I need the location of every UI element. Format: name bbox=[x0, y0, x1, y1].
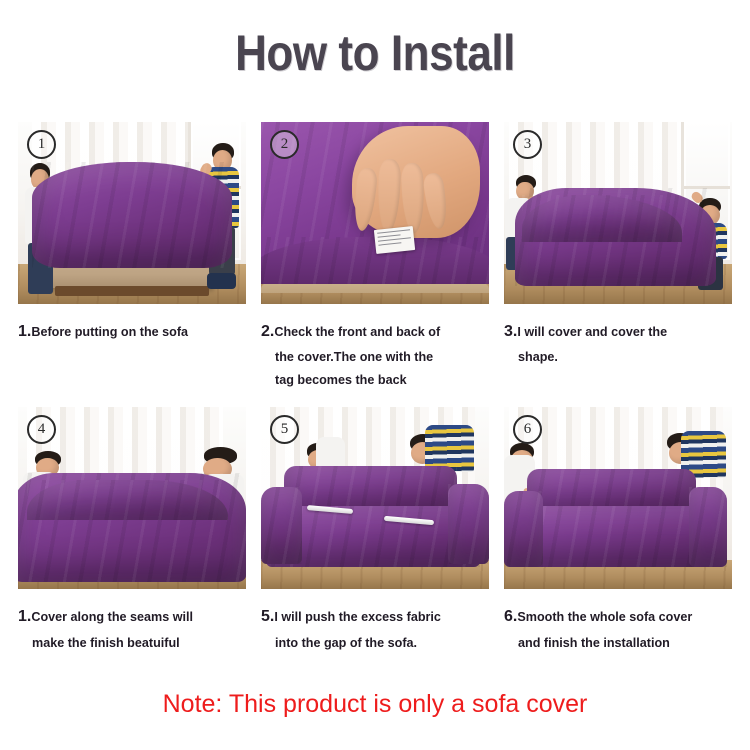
fabric-folds bbox=[448, 484, 489, 564]
finger bbox=[376, 159, 400, 234]
step-badge: 3 bbox=[513, 130, 542, 159]
step-photo-5: 5 bbox=[261, 407, 489, 589]
caption-line-2: make the finish beatuiful bbox=[18, 632, 246, 654]
step-cell-6: 6 6.Smooth the whole sofa cover and fini… bbox=[504, 407, 732, 654]
step-number: 1. bbox=[18, 608, 31, 625]
step-number: 3. bbox=[504, 323, 517, 340]
care-tag bbox=[374, 226, 415, 254]
finger bbox=[401, 162, 425, 233]
tag-text-line bbox=[378, 241, 401, 245]
step-caption-1: 1.Before putting on the sofa bbox=[18, 318, 246, 346]
step-cell-4: 4 1.Cover along the seams will make the … bbox=[18, 407, 246, 654]
step-cell-1: 1 1.Before putting on the sofa bbox=[18, 122, 246, 391]
step-photo-6: 6 bbox=[504, 407, 732, 589]
caption-line-1: Check the front and back of bbox=[274, 325, 440, 339]
caption-line-1: Cover along the seams will bbox=[31, 610, 193, 624]
shoes bbox=[207, 273, 236, 289]
fabric-folds bbox=[261, 487, 302, 563]
step-badge: 1 bbox=[27, 130, 56, 159]
caption-line-2: the cover.The one with the bbox=[261, 346, 489, 368]
hand bbox=[352, 126, 480, 239]
step-cell-2: 2 2.Check the front and back of the cove… bbox=[261, 122, 489, 391]
step-caption-2: 2.Check the front and back of the cover.… bbox=[261, 318, 489, 391]
step-number: 6. bbox=[504, 608, 517, 625]
step-number: 5. bbox=[261, 608, 274, 625]
finger bbox=[422, 172, 450, 231]
caption-line-1: I will push the excess fabric bbox=[274, 610, 441, 624]
footer-note: Note: This product is only a sofa cover bbox=[0, 690, 750, 719]
step-badge: 2 bbox=[270, 130, 299, 159]
caption-line-3: tag becomes the back bbox=[261, 369, 489, 391]
step-caption-6: 6.Smooth the whole sofa cover and finish… bbox=[504, 603, 732, 654]
tag-text-line bbox=[378, 233, 401, 237]
caption-line-1: Before putting on the sofa bbox=[31, 325, 188, 339]
fabric-folds bbox=[32, 162, 233, 268]
step-caption-4: 1.Cover along the seams will make the fi… bbox=[18, 603, 246, 654]
step-caption-3: 3.I will cover and cover the shape. bbox=[504, 318, 732, 369]
step-photo-4: 4 bbox=[18, 407, 246, 589]
cover-arm-left bbox=[261, 487, 302, 563]
cover-arm-right bbox=[689, 487, 728, 567]
step-photo-1: 1 bbox=[18, 122, 246, 304]
fabric-folds bbox=[504, 491, 543, 567]
step-number: 2. bbox=[261, 323, 274, 340]
step-number: 1. bbox=[18, 323, 31, 340]
caption-line-2: shape. bbox=[504, 346, 732, 368]
caption-line-2: into the gap of the sofa. bbox=[261, 632, 489, 654]
caption-line-1: I will cover and cover the bbox=[517, 325, 667, 339]
cover-arm-right bbox=[448, 484, 489, 564]
tag-text-line bbox=[377, 228, 410, 233]
steps-grid: 1 1.Before putting on the sofa bbox=[18, 122, 732, 654]
page-title: How to Install bbox=[45, 0, 705, 78]
step-photo-3: 3 bbox=[504, 122, 732, 304]
step-cell-5: 5 5.I will push the excess fabric into t… bbox=[261, 407, 489, 654]
fabric-folds bbox=[689, 487, 728, 567]
step-cell-3: 3 3.I will cover and cover the shape. bbox=[504, 122, 732, 391]
caption-line-1: Smooth the whole sofa cover bbox=[517, 610, 692, 624]
caption-line-2: and finish the installation bbox=[504, 632, 732, 654]
cover-arm-left bbox=[504, 491, 543, 567]
cover-drape bbox=[32, 162, 233, 268]
step-caption-5: 5.I will push the excess fabric into the… bbox=[261, 603, 489, 654]
step-photo-2: 2 bbox=[261, 122, 489, 304]
